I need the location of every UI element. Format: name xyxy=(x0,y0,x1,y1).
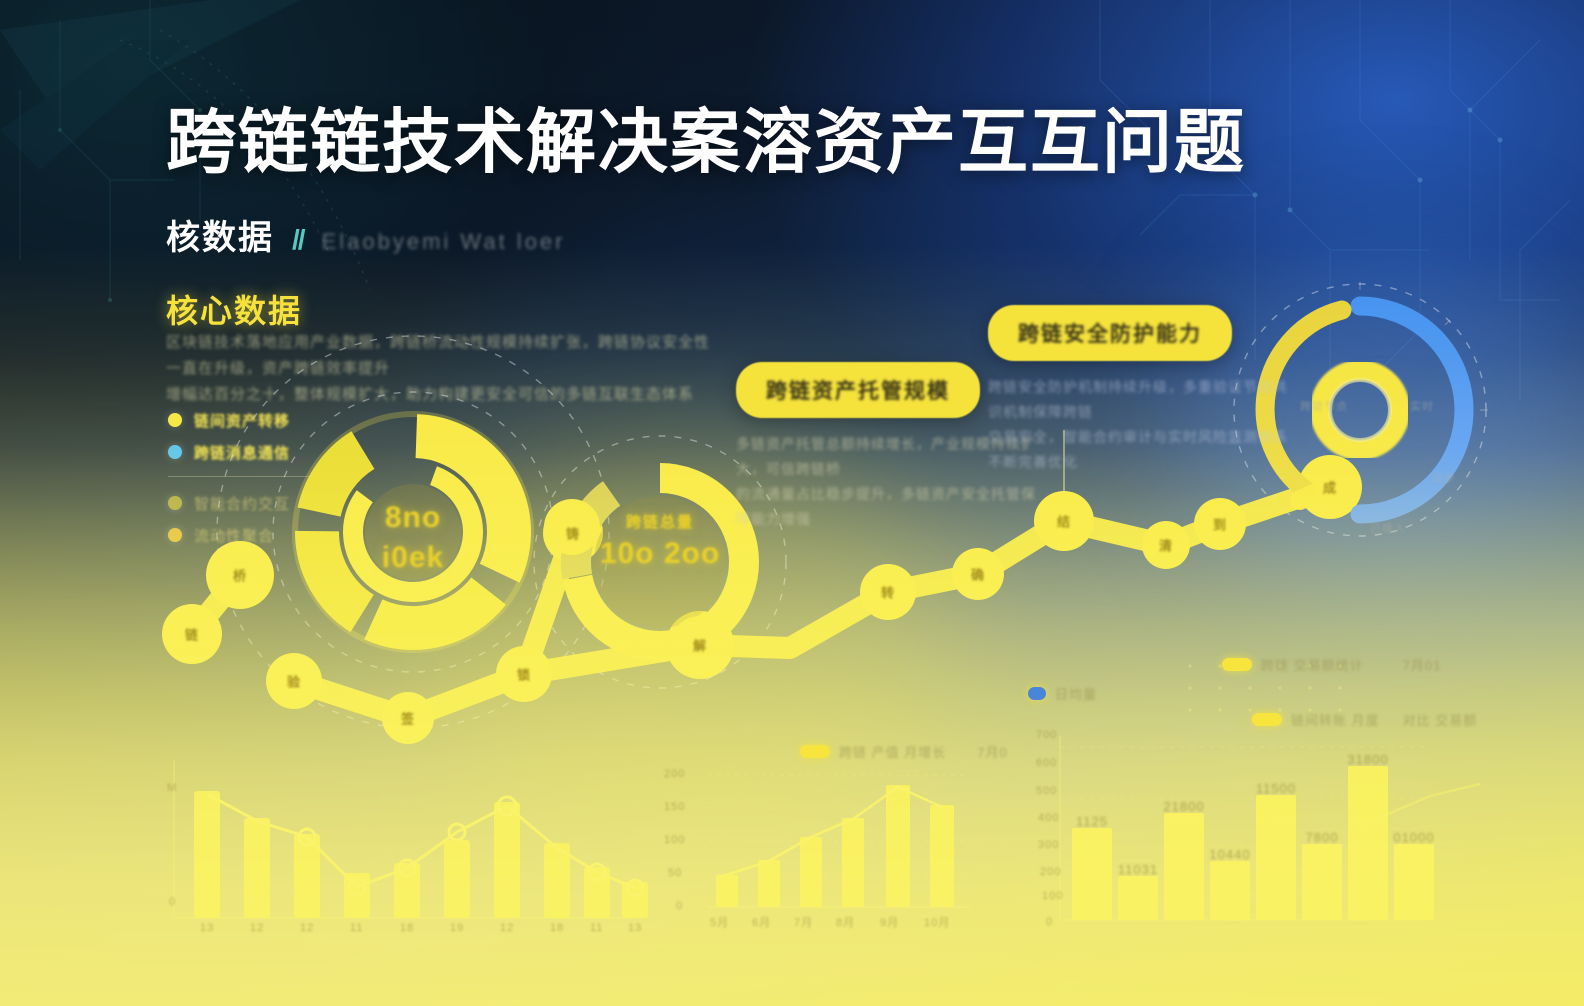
bottom-middle-chart xyxy=(708,775,970,907)
right-chart-ytick-200: 200 xyxy=(1040,866,1061,878)
right-chart-blue-legend: 日均量 xyxy=(1028,684,1097,703)
left-chart-xtick-1: 12 xyxy=(250,922,264,934)
middle-chart-ytick-0: 0 xyxy=(676,900,683,912)
right-chart-legend-1-label: 跨链 交易额统计 xyxy=(1261,655,1364,674)
right-chart-value-label-3: 10440 xyxy=(1209,847,1250,862)
left-chart-xtick-0: 13 xyxy=(200,922,214,934)
infographic-dashboard: 跨链链技术解决案溶资产互互问题 核数据 // Elaobyemi Wat loe… xyxy=(0,0,1584,1006)
middle-chart-legend-swatch xyxy=(800,745,830,758)
right-chart-ytick-400: 400 xyxy=(1038,812,1059,824)
legend-dot-2 xyxy=(168,496,182,510)
core-data-body: 区块链技术落地应用产业数据，跨链桥流动性规模持续扩张，跨链协议安全性一直在升级，… xyxy=(166,330,714,408)
middle-chart-ytick-200: 200 xyxy=(664,768,685,780)
middle-chart-xtick-0: 5月 xyxy=(710,914,729,930)
middle-chart-ytick-100: 100 xyxy=(664,834,685,846)
secondary-donut-value: 10o 2oo xyxy=(580,534,740,574)
right-chart-legend-2-swatch xyxy=(1252,713,1282,726)
right-chart-value-label-6: 31800 xyxy=(1347,752,1388,767)
secondary-donut-caption: 跨链总量 xyxy=(580,512,740,534)
right-chart-value-label-0: 1125 xyxy=(1076,814,1108,829)
gauge-tick-label-2: 同步 xyxy=(1432,470,1456,486)
left-chart-xtick-7: 18 xyxy=(550,922,564,934)
primary-donut-value: 8no xyxy=(333,498,493,538)
right-chart-value-label-4: 11500 xyxy=(1256,781,1296,796)
middle-chart-xtick-3: 8月 xyxy=(836,914,855,930)
legend-item-3[interactable]: 流动性聚合 xyxy=(168,519,348,551)
gauge-tick-label-1: 实时 xyxy=(1410,398,1434,414)
legend-label-3: 流动性聚合 xyxy=(194,525,274,546)
callout-badge-2[interactable]: 跨链安全防护能力 xyxy=(988,305,1232,361)
page-title: 跨链链技术解决案溶资产互互问题 xyxy=(166,86,1466,187)
right-chart-legend-2-label: 链间转账 月度 xyxy=(1291,710,1380,729)
right-chart-ytick-100: 100 xyxy=(1042,890,1063,902)
right-chart-legend-2-value: 对比 交易额 xyxy=(1403,710,1478,729)
legend-label-2: 智能合约交互 xyxy=(194,493,290,514)
flow-node-glyph-10[interactable]: 清 xyxy=(1159,536,1173,555)
middle-chart-legend: 跨链 产值 月增长 7月0 xyxy=(800,742,1008,761)
legend-dot-3 xyxy=(168,528,182,542)
gauge-tick-label-3: 已接入 xyxy=(1370,520,1406,536)
right-chart-legend-1-swatch xyxy=(1222,658,1252,671)
flow-node-glyph-11[interactable]: 到 xyxy=(1213,515,1227,534)
secondary-donut-center-label: 跨链总量 10o 2oo xyxy=(580,512,740,574)
left-chart-xtick-6: 12 xyxy=(500,922,514,934)
right-chart-legend-1-value: 7月01 xyxy=(1403,655,1442,674)
middle-chart-xtick-5: 10月 xyxy=(924,914,950,930)
right-chart-legend-1: 跨链 交易额统计 7月01 xyxy=(1222,655,1441,674)
callout-badge-1[interactable]: 跨链资产托管规模 xyxy=(736,362,980,418)
legend-divider xyxy=(168,476,318,477)
legend-label-0: 链间资产转移 xyxy=(194,410,290,431)
right-chart-ytick-300: 300 xyxy=(1038,839,1059,851)
flow-node-glyph-8[interactable]: 确 xyxy=(971,565,985,584)
left-chart-xtick-2: 12 xyxy=(300,922,314,934)
middle-chart-legend-label: 跨链 产值 月增长 xyxy=(839,742,946,761)
right-chart-blue-legend-swatch xyxy=(1028,687,1046,700)
callout-body-2-line-1: 跨链安全防护机制持续升级，多重验证节点共识机制保障跨链 xyxy=(988,375,1288,425)
right-chart-value-label-1: 11031 xyxy=(1118,862,1158,877)
middle-chart-xtick-4: 9月 xyxy=(880,914,899,930)
legend-dot-1 xyxy=(168,445,182,459)
flow-node-glyph-9[interactable]: 结 xyxy=(1057,512,1071,531)
slash-separator-icon: // xyxy=(292,224,304,256)
flow-node-glyph-1[interactable]: 桥 xyxy=(233,566,247,585)
flow-node-glyph-5[interactable]: 铸 xyxy=(566,524,580,543)
right-chart-ytick-600: 600 xyxy=(1036,757,1057,769)
right-chart-value-label-2: 21800 xyxy=(1163,799,1204,814)
left-chart-xtick-4: 18 xyxy=(400,922,414,934)
middle-chart-ytick-150: 150 xyxy=(664,801,685,813)
left-chart-xtick-9: 13 xyxy=(628,922,642,934)
callout-body-2: 跨链安全防护机制持续升级，多重验证节点共识机制保障跨链 交易安全，智能合约审计与… xyxy=(988,375,1288,475)
flow-node-glyph-4[interactable]: 锁 xyxy=(517,665,531,684)
core-body-line-1: 区块链技术落地应用产业数据，跨链桥流动性规模持续扩张，跨链协议安全性一直在升级，… xyxy=(166,330,714,382)
left-chart-axis-tick-min: 0 xyxy=(169,896,176,908)
primary-donut-subvalue: i0ek xyxy=(333,538,493,578)
middle-chart-xtick-2: 7月 xyxy=(794,914,813,930)
bottom-left-combo-chart xyxy=(174,760,648,918)
right-chart-ytick-0: 0 xyxy=(1046,916,1053,928)
chart-legend: 链间资产转移 跨链消息通信 智能合约交互 流动性聚合 xyxy=(168,404,348,551)
flow-node-glyph-3[interactable]: 签 xyxy=(401,709,415,728)
callout-card-2: 跨链安全防护能力 跨链安全防护机制持续升级，多重验证节点共识机制保障跨链 交易安… xyxy=(988,305,1288,475)
right-chart-value-label-5: 7800 xyxy=(1306,830,1339,845)
left-chart-xtick-8: 11 xyxy=(590,922,603,934)
core-data-heading: 核心数据 xyxy=(166,286,302,332)
callout-body-1-line-2: 的流通量占比稳步提升，多链资产安全托管保障能力增强 xyxy=(736,482,1036,532)
flow-node-glyph-6[interactable]: 解 xyxy=(693,636,707,655)
gauge-tick-label-0: 跨链节点 xyxy=(1300,398,1348,414)
section-label: 核数据 xyxy=(166,210,274,259)
middle-chart-ytick-50: 50 xyxy=(668,867,682,879)
callout-body-2-line-2: 交易安全，智能合约审计与实时风险监测体系不断完善优化 xyxy=(988,425,1288,475)
callout-badge-2-label: 跨链安全防护能力 xyxy=(1018,323,1202,346)
legend-item-1[interactable]: 跨链消息通信 xyxy=(168,436,348,468)
right-chart-legend-2: 链间转账 月度 对比 交易额 xyxy=(1252,710,1477,729)
legend-item-2[interactable]: 智能合约交互 xyxy=(168,487,348,519)
left-chart-xtick-3: 11 xyxy=(350,922,363,934)
right-chart-blue-legend-label: 日均量 xyxy=(1055,684,1097,703)
flow-node-glyph-2[interactable]: 验 xyxy=(287,672,301,691)
right-chart-value-label-7: 01000 xyxy=(1393,830,1434,845)
middle-chart-xtick-1: 6月 xyxy=(752,914,771,930)
section-subheader: 核数据 // Elaobyemi Wat loer xyxy=(166,210,565,259)
flow-node-glyph-0[interactable]: 链 xyxy=(185,625,199,644)
left-chart-xtick-5: 19 xyxy=(450,922,464,934)
left-chart-axis-tick-max: M xyxy=(167,782,177,794)
legend-dot-0 xyxy=(168,413,182,427)
right-chart-ytick-700: 700 xyxy=(1036,729,1057,741)
subtitle-latin-text: Elaobyemi Wat loer xyxy=(322,229,566,255)
legend-label-1: 跨链消息通信 xyxy=(194,442,290,463)
flow-node-glyph-7[interactable]: 转 xyxy=(881,583,895,602)
callout-badge-1-label: 跨链资产托管规模 xyxy=(766,380,950,403)
flow-node-glyph-12[interactable]: 成 xyxy=(1323,478,1337,497)
right-chart-ytick-500: 500 xyxy=(1036,785,1057,797)
legend-item-0[interactable]: 链间资产转移 xyxy=(168,404,348,436)
primary-donut-center-label: 8no i0ek xyxy=(333,498,493,578)
middle-chart-legend-value: 7月0 xyxy=(977,742,1007,761)
